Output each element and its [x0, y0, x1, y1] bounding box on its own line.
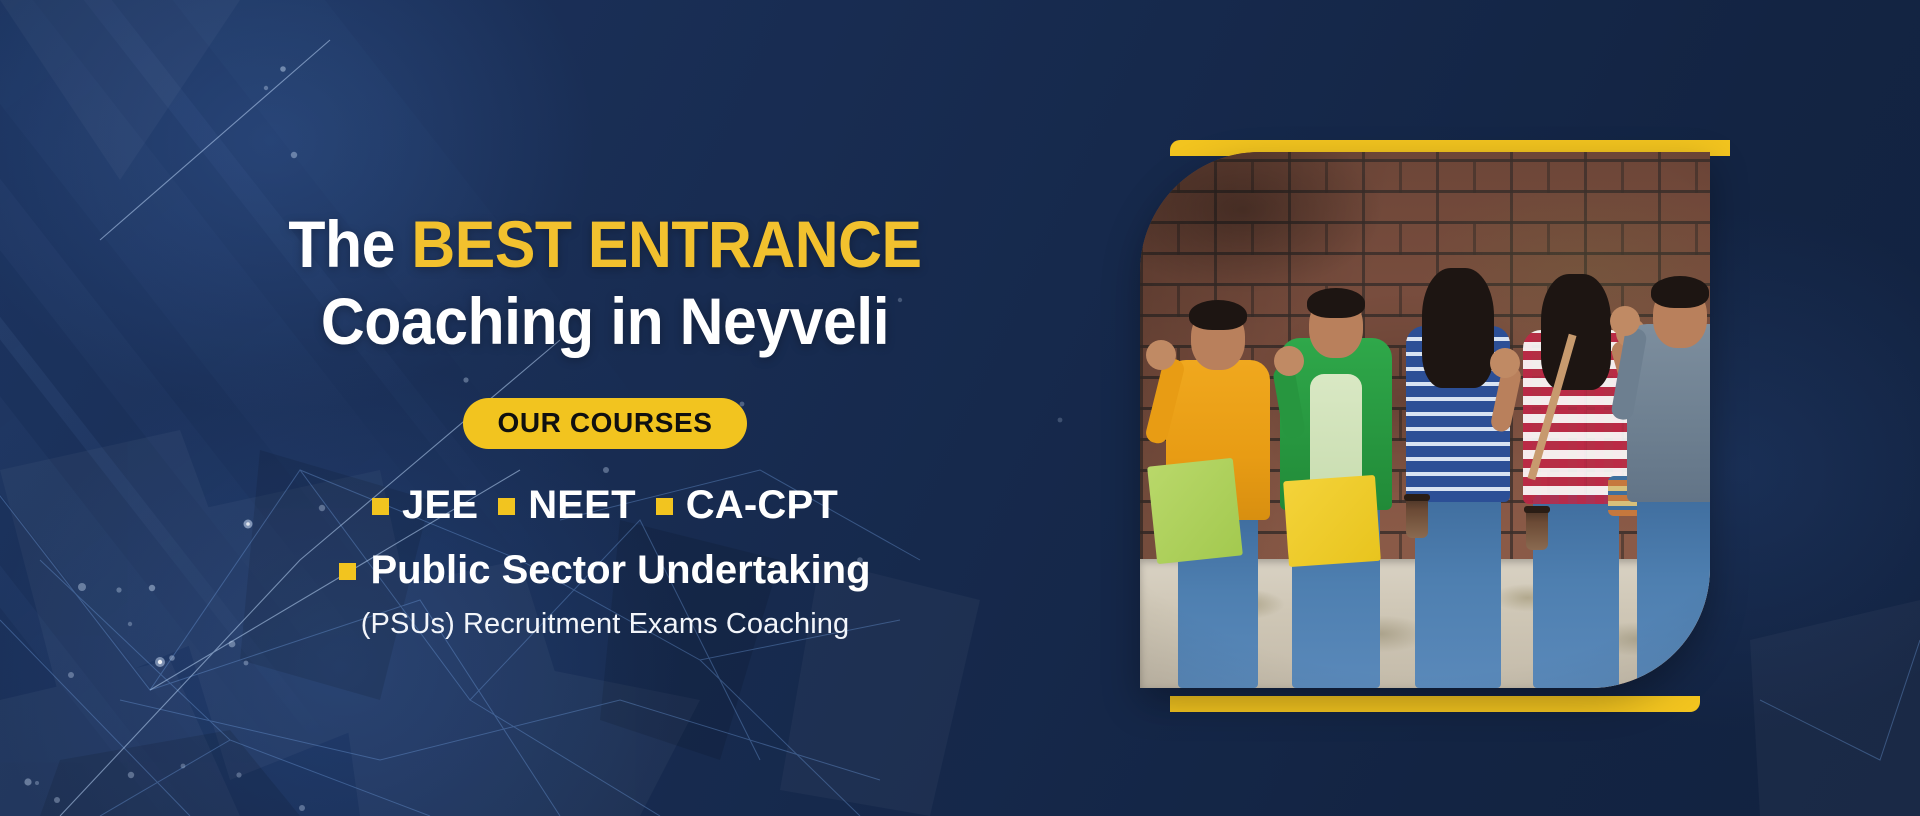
- student-1: [1158, 268, 1278, 688]
- course-item-cacpt[interactable]: CA-CPT: [656, 485, 838, 525]
- square-bullet-icon: [372, 498, 389, 515]
- psu-subtitle: (PSUs) Recruitment Exams Coaching: [240, 608, 970, 641]
- course-item-psu[interactable]: Public Sector Undertaking: [240, 550, 970, 590]
- our-courses-badge[interactable]: OUR COURSES: [463, 398, 746, 449]
- course-label: NEET: [528, 485, 635, 525]
- student-photo: [1140, 152, 1710, 688]
- course-item-jee[interactable]: JEE: [372, 485, 478, 525]
- student-5: [1620, 232, 1710, 688]
- our-courses-badge-row: OUR COURSES: [240, 398, 970, 449]
- course-label: JEE: [402, 485, 478, 525]
- student-3: [1396, 236, 1520, 688]
- headline-accent: BEST ENTRANCE: [411, 207, 921, 281]
- student-photo-zone: [1140, 140, 1730, 700]
- headline-line-1: The BEST ENTRANCE: [269, 212, 941, 277]
- photo-accent-bar-bottom: [1170, 696, 1700, 712]
- courses-list: JEE NEET CA-CPT: [240, 485, 970, 525]
- headline-line-2: Coaching in Neyveli: [269, 289, 941, 354]
- course-item-neet[interactable]: NEET: [498, 485, 635, 525]
- headline-prefix: The: [288, 207, 411, 281]
- yellow-folder: [1283, 475, 1381, 567]
- coffee-cup: [1406, 498, 1428, 538]
- psu-label: Public Sector Undertaking: [370, 550, 870, 590]
- headline-group: The BEST ENTRANCE Coaching in Neyveli: [240, 212, 970, 353]
- green-folder: [1147, 458, 1243, 564]
- hero-banner: The BEST ENTRANCE Coaching in Neyveli OU…: [0, 0, 1920, 816]
- students-group: [1140, 152, 1710, 688]
- square-bullet-icon: [498, 498, 515, 515]
- course-label: CA-CPT: [686, 485, 838, 525]
- hero-text-column: The BEST ENTRANCE Coaching in Neyveli OU…: [0, 0, 1000, 816]
- square-bullet-icon: [339, 563, 356, 580]
- square-bullet-icon: [656, 498, 673, 515]
- student-2: [1272, 248, 1400, 688]
- coffee-cup: [1526, 510, 1548, 550]
